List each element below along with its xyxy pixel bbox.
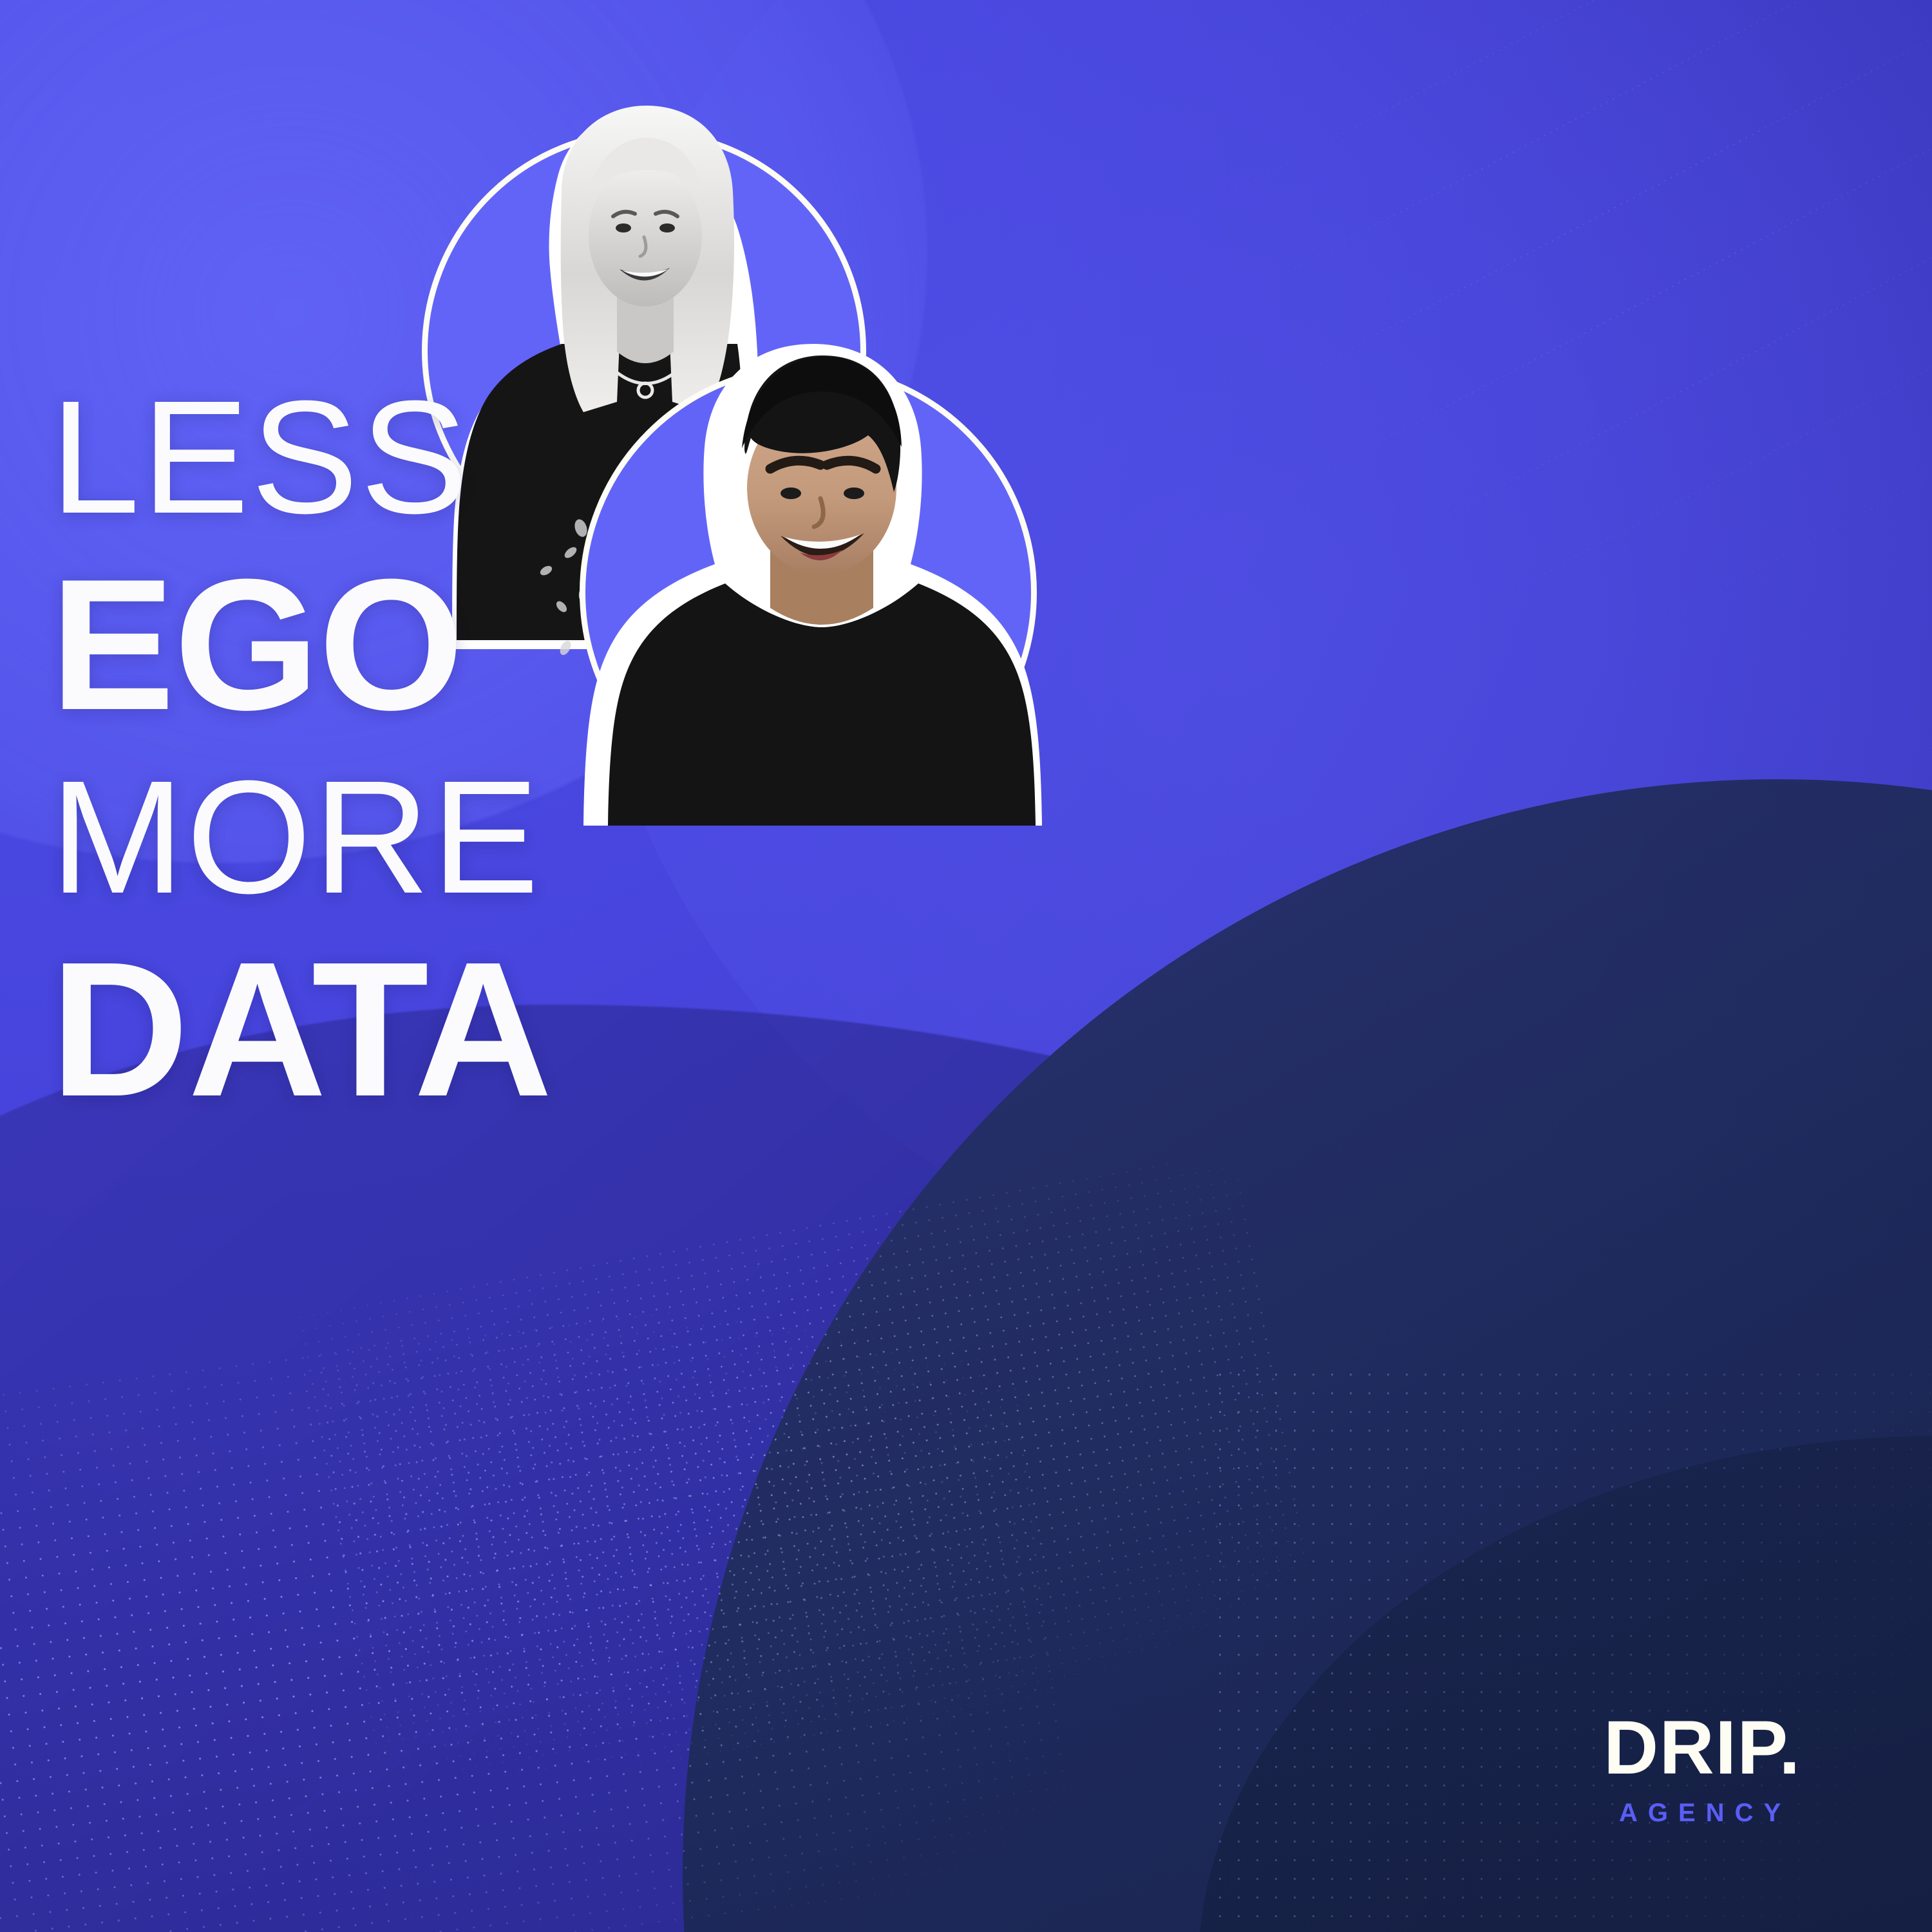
headline-line-2: EGO (50, 555, 1197, 734)
brand-tagline: AGENCY (1619, 1800, 1874, 1826)
cover-art-canvas: LESS EGO MORE DATA DRIP. AGENCY (0, 0, 1932, 1932)
headline-line-3: MORE (50, 760, 1197, 914)
headline-line-1: LESS (50, 380, 1197, 535)
brand-logo: DRIP. AGENCY (1604, 1710, 1874, 1826)
headline-line-4: DATA (50, 938, 1197, 1122)
headline: LESS EGO MORE DATA (50, 380, 1197, 1122)
brand-name: DRIP. (1604, 1710, 1874, 1786)
